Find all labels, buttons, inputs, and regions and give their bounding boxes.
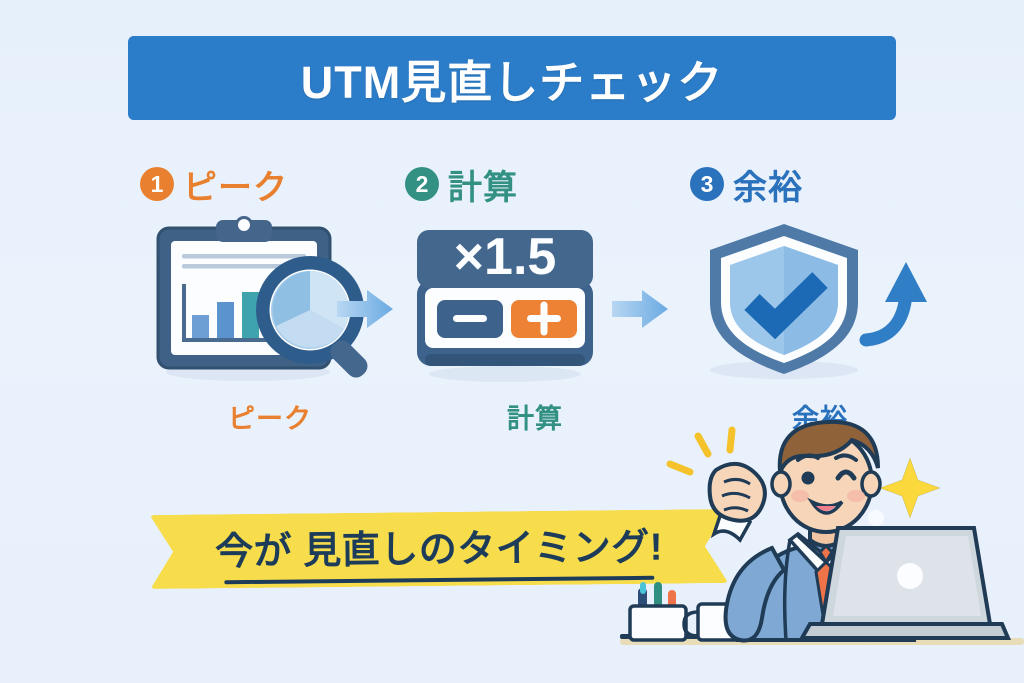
- character-svg: [620, 420, 1024, 683]
- infographic-canvas: UTM見直しチェック 1 ピーク: [0, 0, 1024, 683]
- page-title: UTM見直しチェック: [128, 36, 896, 120]
- arrow-right-icon: [335, 285, 395, 333]
- pen-cup-icon: [630, 582, 686, 640]
- bubble-dot-1: [868, 510, 884, 526]
- fist-icon: [710, 464, 765, 521]
- step-3-illustration: [680, 214, 960, 389]
- step-3-number-badge: 3: [690, 167, 724, 201]
- plus-glyph-v: [541, 302, 548, 336]
- step-column-3: 3 余裕 余裕: [680, 160, 960, 450]
- step-1-caption: ピーク: [130, 397, 410, 436]
- cta-text: 今が 見直しのタイミング!: [215, 516, 663, 576]
- step-2-header: 2 計算: [395, 160, 675, 208]
- flow-arrow-1: [335, 285, 395, 333]
- step-1-title: ピーク: [183, 160, 288, 209]
- flow-arrow-2: [610, 285, 670, 333]
- step-1-number-badge: 1: [140, 167, 174, 201]
- step-2-title: 計算: [448, 160, 518, 209]
- calculator-display-value: ×1.5: [454, 228, 557, 286]
- step-1-header: 1 ピーク: [130, 160, 410, 208]
- minus-glyph: [453, 315, 487, 322]
- sparkle-large-icon: [880, 458, 940, 518]
- eye-left: [802, 472, 815, 485]
- businessman-laptop-illustration: [620, 420, 1024, 683]
- shield-check-arrow-icon: [680, 214, 960, 389]
- arrow-right-icon: [610, 285, 670, 333]
- step-3-title: 余裕: [733, 160, 803, 209]
- cta-underline: [224, 576, 654, 585]
- step-2-number-badge: 2: [405, 167, 439, 201]
- step-3-header: 3 余裕: [680, 160, 960, 208]
